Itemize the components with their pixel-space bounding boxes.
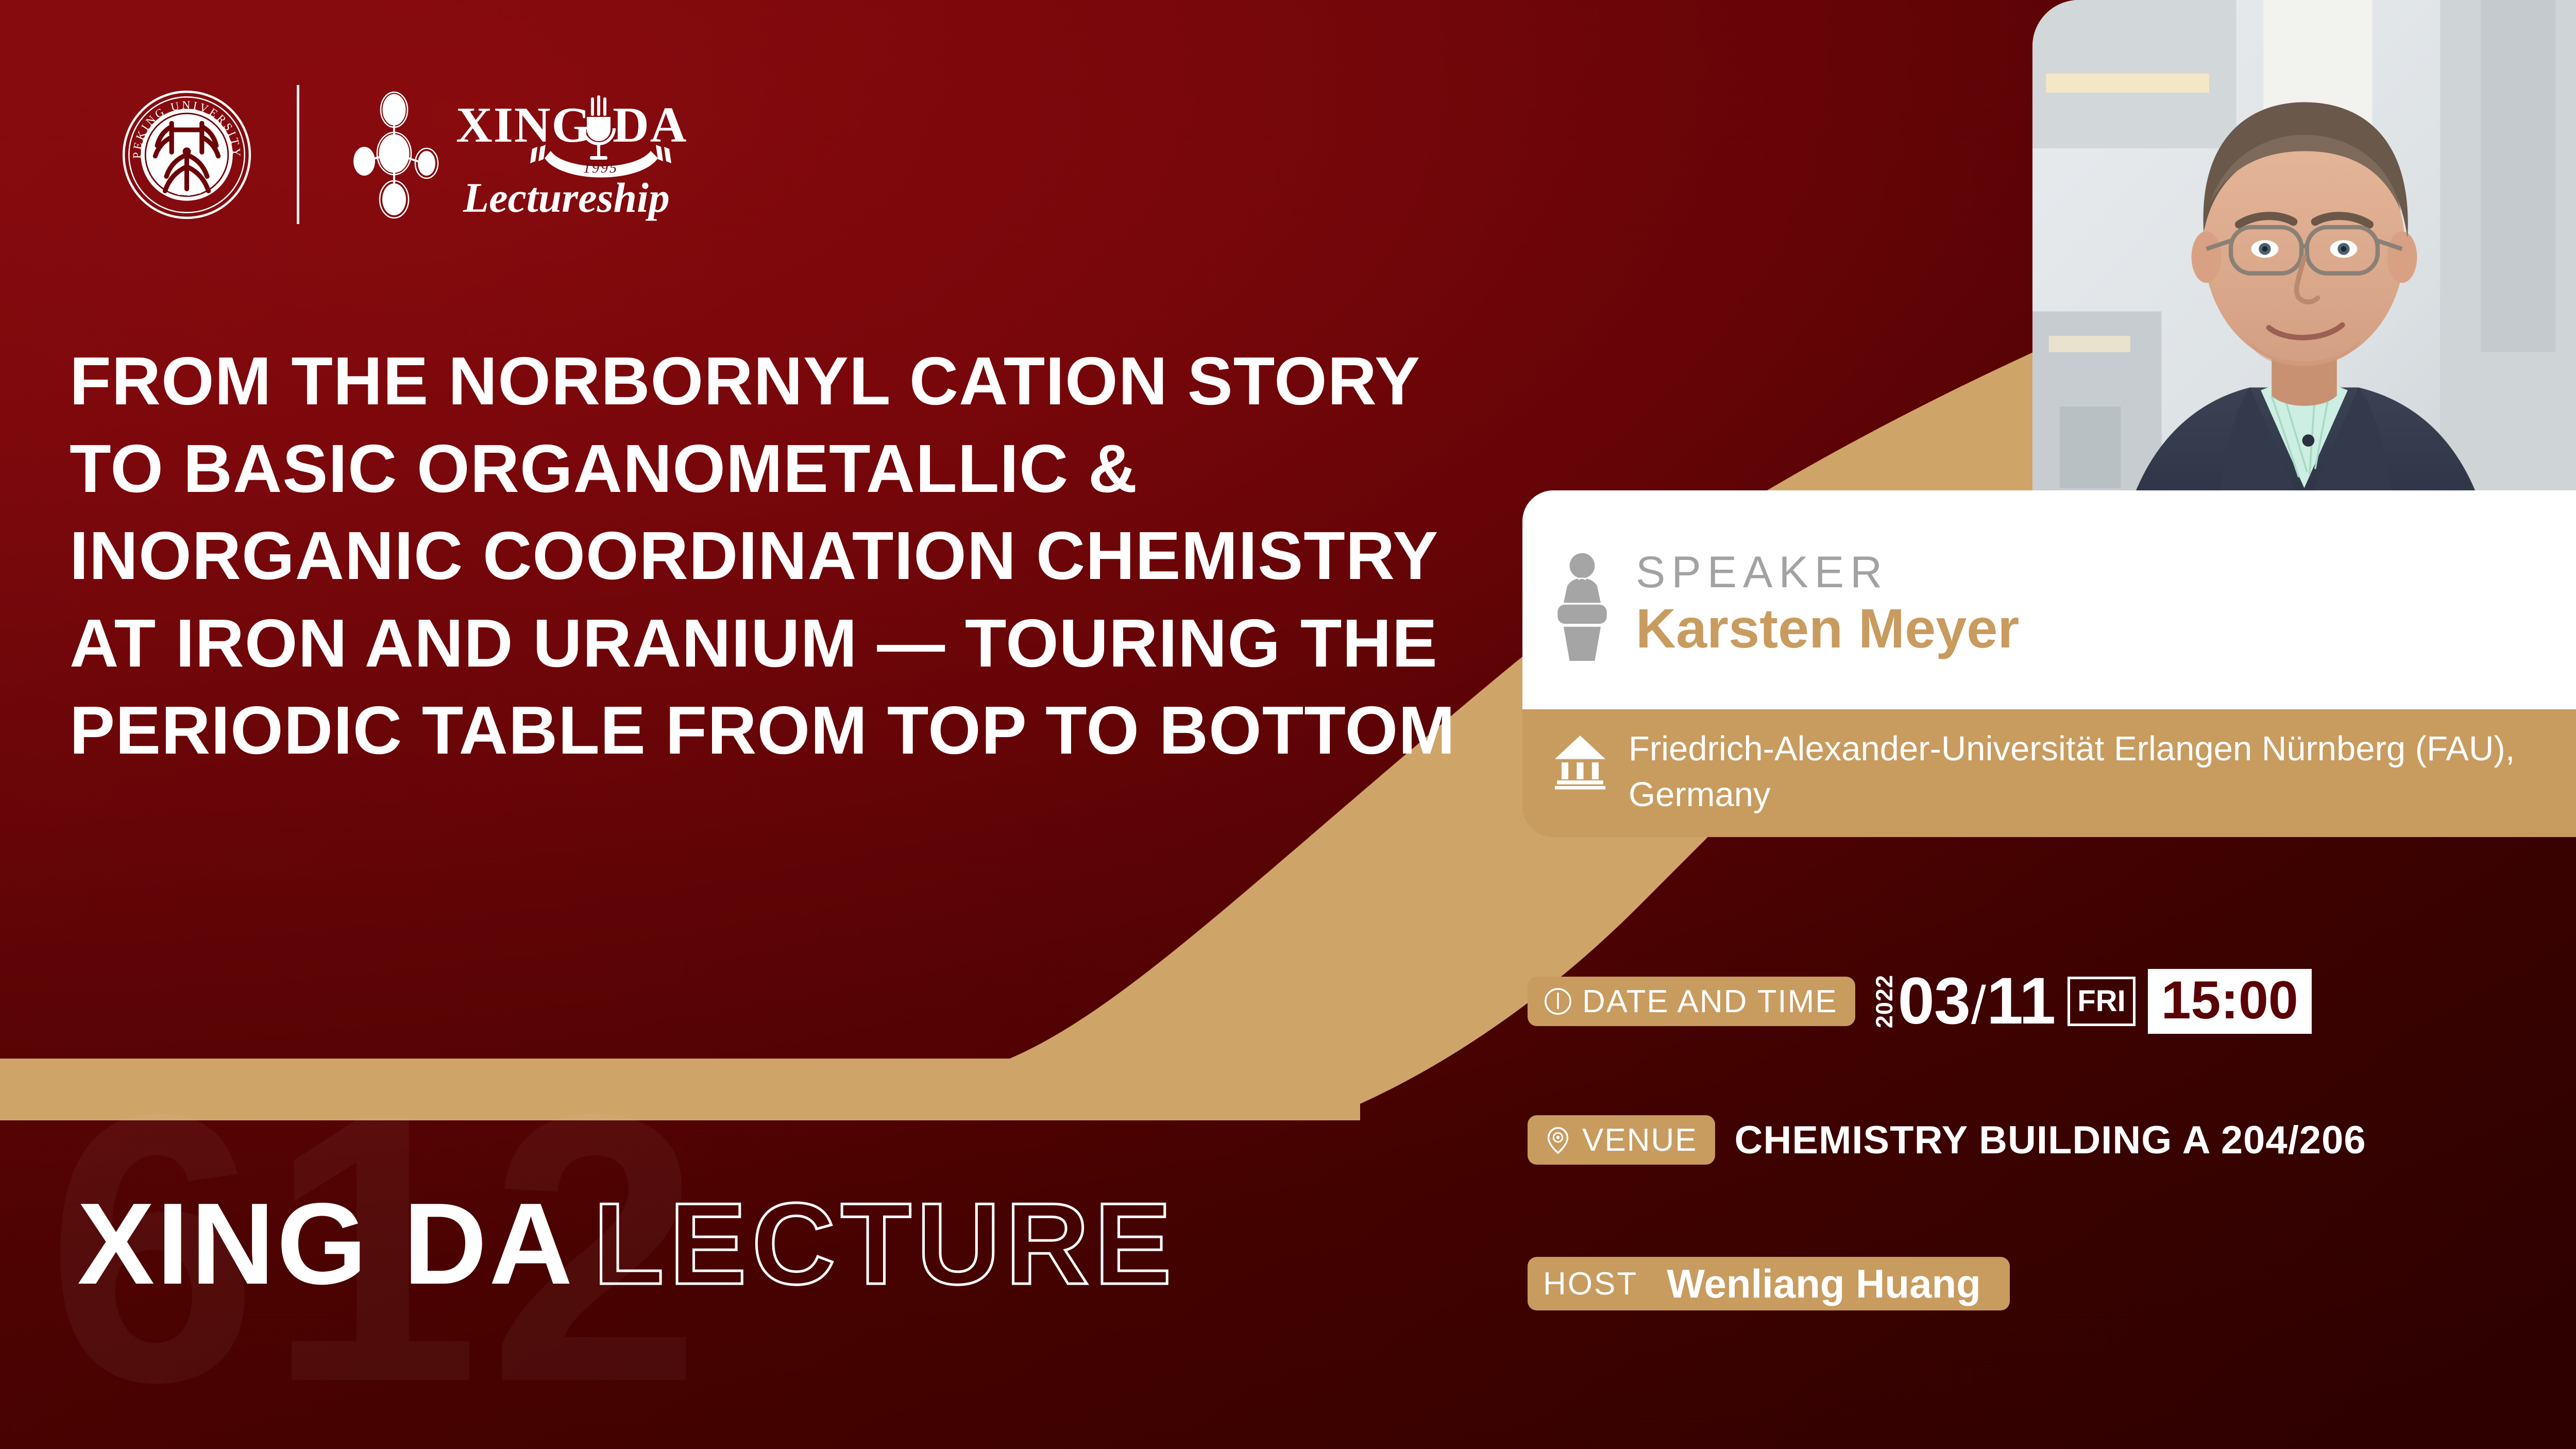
date-weekday-badge: FRI [2067, 977, 2135, 1026]
time-value-badge: 15:00 [2148, 969, 2312, 1034]
svg-text:DA: DA [613, 97, 688, 153]
speaker-text-group: SPEAKER Karsten Meyer [1636, 550, 2019, 662]
brand-lockup: XING DA LECTURE [77, 1177, 1177, 1310]
date-year: 2022 [1873, 975, 1896, 1028]
date-time-label-pill: DATE AND TIME [1528, 977, 1855, 1026]
date-month-day: 03/11 [1898, 968, 2056, 1034]
host-label: HOST [1543, 1266, 1638, 1302]
peking-university-seal-icon: PEKING UNIVERSITY 1898 [121, 89, 252, 220]
clock-icon [1543, 986, 1573, 1016]
venue-value: CHEMISTRY BUILDING A 204/206 [1735, 1118, 2366, 1163]
speaker-card-top: SPEAKER Karsten Meyer [1522, 490, 2576, 709]
speaker-label: SPEAKER [1636, 550, 2019, 594]
date-month: 03 [1898, 964, 1970, 1038]
date-time-label: DATE AND TIME [1582, 983, 1838, 1020]
venue-row: VENUE CHEMISTRY BUILDING A 204/206 [1528, 1115, 2366, 1165]
venue-label-pill: VENUE [1528, 1115, 1715, 1165]
brand-xingda: XING DA [77, 1177, 575, 1310]
date-value-group: 2022 03/11 FRI 15:00 [1873, 968, 2312, 1034]
speaker-affiliation: Friedrich-Alexander-Universität Erlangen… [1629, 726, 2555, 817]
host-row: HOST Wenliang Huang [1528, 1257, 2010, 1310]
date-time-row: DATE AND TIME 2022 03/11 FRI 15:00 [1528, 968, 2312, 1034]
venue-label: VENUE [1582, 1122, 1698, 1158]
location-pin-icon [1543, 1125, 1573, 1155]
lecture-title: FROM THE NORBORNYL CATION STORY TO BASIC… [70, 337, 1471, 774]
svg-text:Lectureship: Lectureship [463, 174, 670, 221]
host-pill: HOST Wenliang Huang [1528, 1257, 2010, 1310]
host-name: Wenliang Huang [1667, 1260, 1981, 1307]
brand-lecture: LECTURE [594, 1177, 1177, 1310]
header-logos: PEKING UNIVERSITY 1898 [121, 85, 709, 224]
bottom-gold-bar [0, 1059, 1360, 1120]
podium-speaker-icon [1549, 550, 1615, 661]
date-day: 11 [1987, 964, 2055, 1038]
speaker-name: Karsten Meyer [1636, 594, 2019, 662]
speaker-card: SPEAKER Karsten Meyer Friedrich-Alexande… [1522, 490, 2576, 837]
lecture-poster: 612 PEKING UNIVERSITY 1898 [0, 0, 2576, 1449]
svg-text:XING: XING [456, 97, 592, 153]
xingda-lectureship-logo-icon: XING DA 1995 Lectureship [349, 85, 709, 224]
speaker-card-affiliation: Friedrich-Alexander-Universität Erlangen… [1522, 709, 2576, 837]
institution-building-icon [1549, 733, 1611, 790]
logo-divider [297, 85, 299, 224]
date-separator: / [1971, 976, 1986, 1035]
